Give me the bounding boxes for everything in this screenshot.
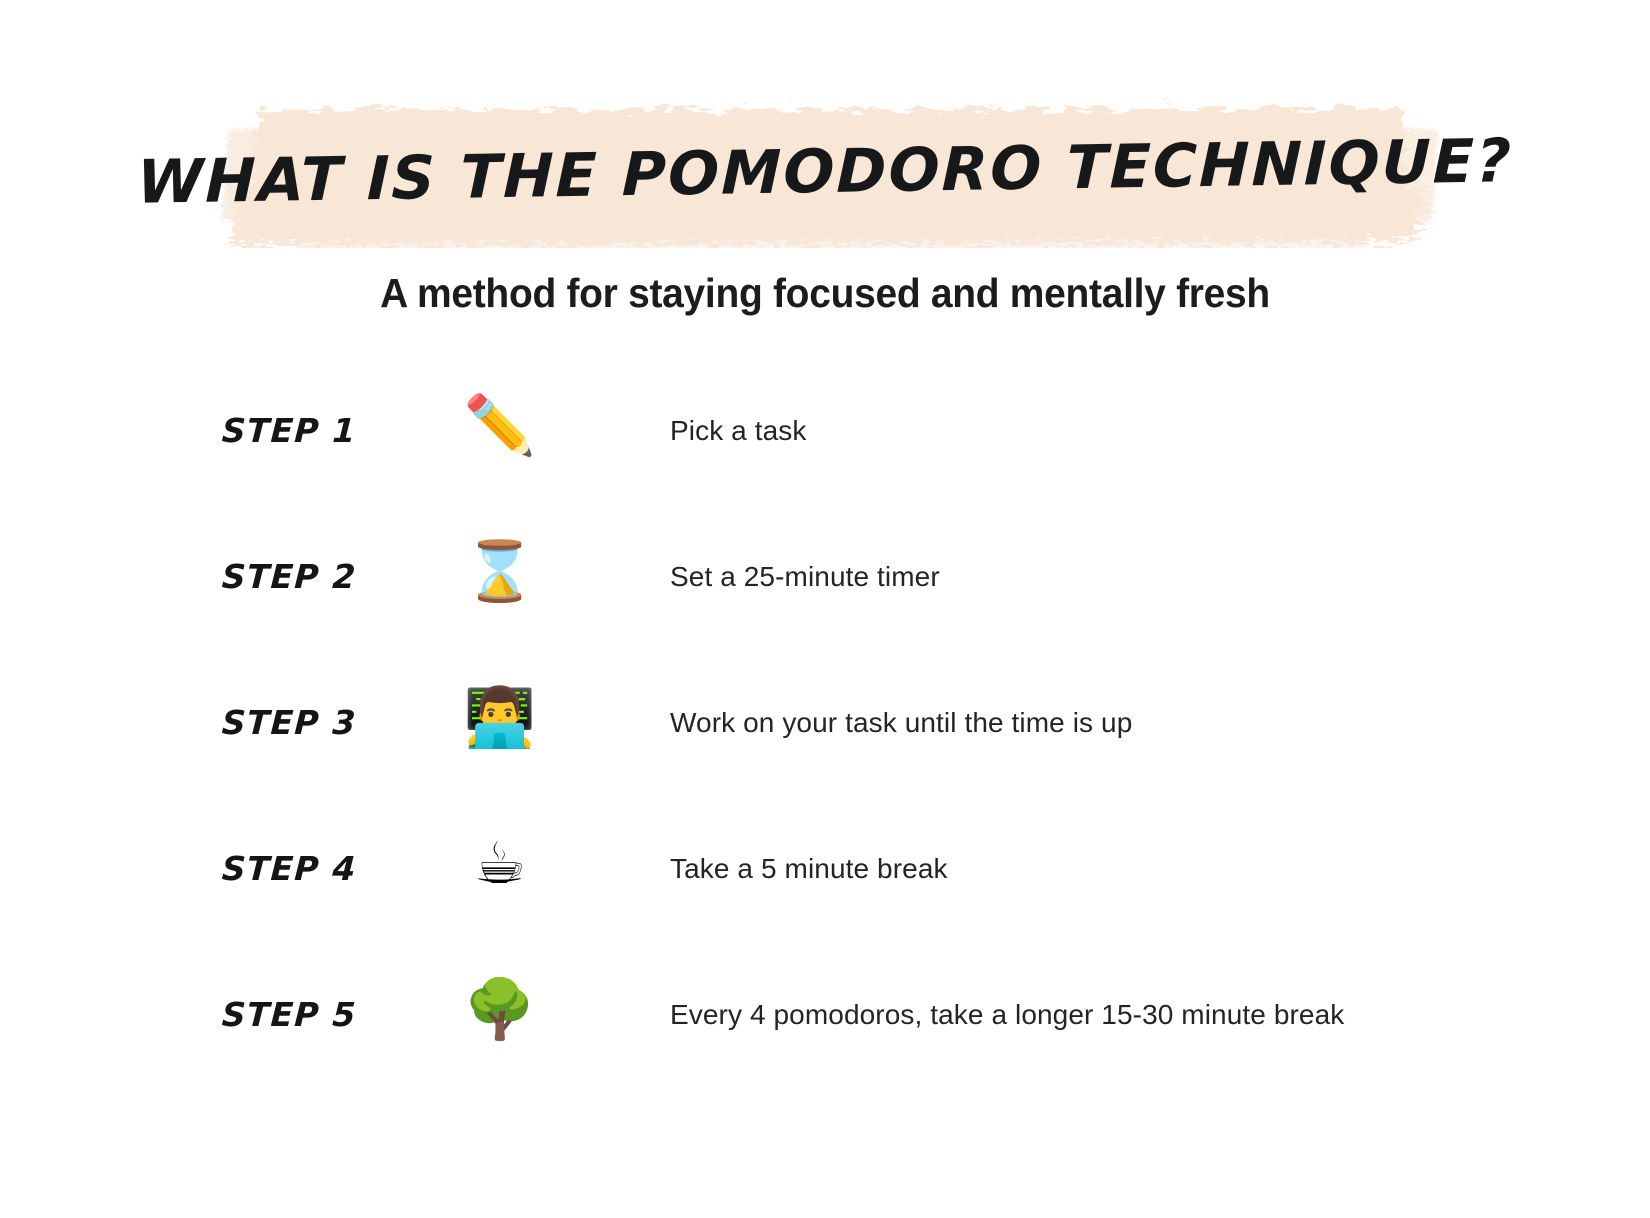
- step-label: STEP 4: [221, 849, 358, 888]
- person-at-laptop-emoji: 👨‍💻: [463, 688, 537, 746]
- page-subtitle: A method for staying focused and mentall…: [41, 270, 1609, 317]
- step-description: Take a 5 minute break: [670, 853, 948, 885]
- step-label: STEP 1: [221, 411, 358, 450]
- step-label: STEP 2: [221, 557, 358, 596]
- step-description: Every 4 pomodoros, take a longer 15-30 m…: [670, 999, 1344, 1031]
- step-label: STEP 5: [221, 995, 358, 1034]
- step-row: STEP 5 🌳 Every 4 pomodoros, take a longe…: [0, 977, 1650, 1123]
- step-description: Pick a task: [670, 415, 806, 447]
- tree-emoji: 🌳: [463, 980, 537, 1038]
- pencil-emoji: ✏️: [463, 396, 537, 454]
- slide-canvas: WHAT IS THE POMODORO TECHNIQUE? A method…: [0, 0, 1650, 1218]
- step-description: Work on your task until the time is up: [670, 707, 1132, 739]
- steps-list: STEP 1 ✏️ Pick a task STEP 2 ⌛ Set a 25-…: [0, 393, 1650, 1123]
- step-row: STEP 2 ⌛ Set a 25-minute timer: [0, 539, 1650, 685]
- hot-beverage-emoji: ☕: [463, 834, 537, 892]
- step-row: STEP 4 ☕ Take a 5 minute break: [0, 831, 1650, 977]
- step-row: STEP 1 ✏️ Pick a task: [0, 393, 1650, 539]
- page-title: WHAT IS THE POMODORO TECHNIQUE?: [0, 83, 1650, 261]
- title-banner: WHAT IS THE POMODORO TECHNIQUE?: [0, 96, 1650, 248]
- step-label: STEP 3: [221, 703, 358, 742]
- hourglass-emoji: ⌛: [463, 542, 537, 600]
- step-row: STEP 3 👨‍💻 Work on your task until the t…: [0, 685, 1650, 831]
- step-description: Set a 25-minute timer: [670, 561, 940, 593]
